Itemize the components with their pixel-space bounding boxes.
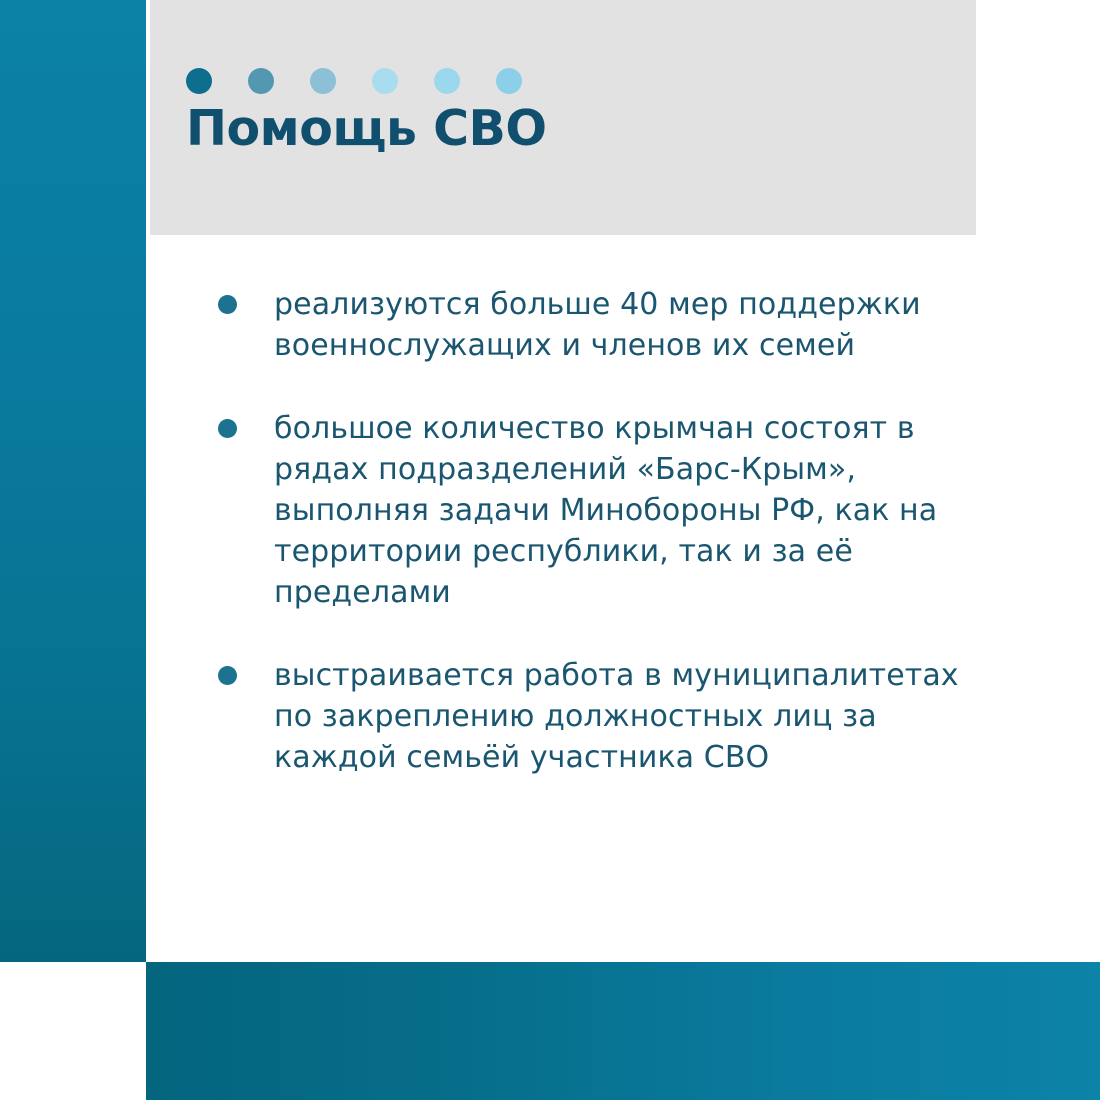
bullet-dot-icon: [218, 295, 237, 314]
bullet-list: реализуются больше 40 мер поддержки воен…: [218, 284, 988, 778]
decor-dot-icon-4: [372, 68, 398, 94]
list-item: большое количество крымчан состоят в ряд…: [218, 408, 988, 613]
list-item: реализуются больше 40 мер поддержки воен…: [218, 284, 988, 366]
header-panel: Помощь СВО: [150, 0, 976, 235]
list-item: выстраивается работа в муниципалитетах п…: [218, 655, 988, 778]
slide-canvas: Помощь СВО реализуются больше 40 мер под…: [0, 0, 1100, 1100]
left-accent-band: [0, 0, 146, 962]
decor-dot-icon-3: [310, 68, 336, 94]
bottom-accent-band: [146, 962, 1100, 1100]
decorative-dot-row: [186, 68, 522, 94]
decor-dot-icon-1: [186, 68, 212, 94]
decor-dot-icon-2: [248, 68, 274, 94]
page-title: Помощь СВО: [186, 102, 547, 156]
bullet-dot-icon: [218, 666, 237, 685]
list-item-text: выстраивается работа в муниципалитетах п…: [274, 655, 988, 778]
list-item-text: большое количество крымчан состоят в ряд…: [274, 408, 988, 613]
bullet-dot-icon: [218, 419, 237, 438]
list-item-text: реализуются больше 40 мер поддержки воен…: [274, 284, 988, 366]
decor-dot-icon-6: [496, 68, 522, 94]
decor-dot-icon-5: [434, 68, 460, 94]
